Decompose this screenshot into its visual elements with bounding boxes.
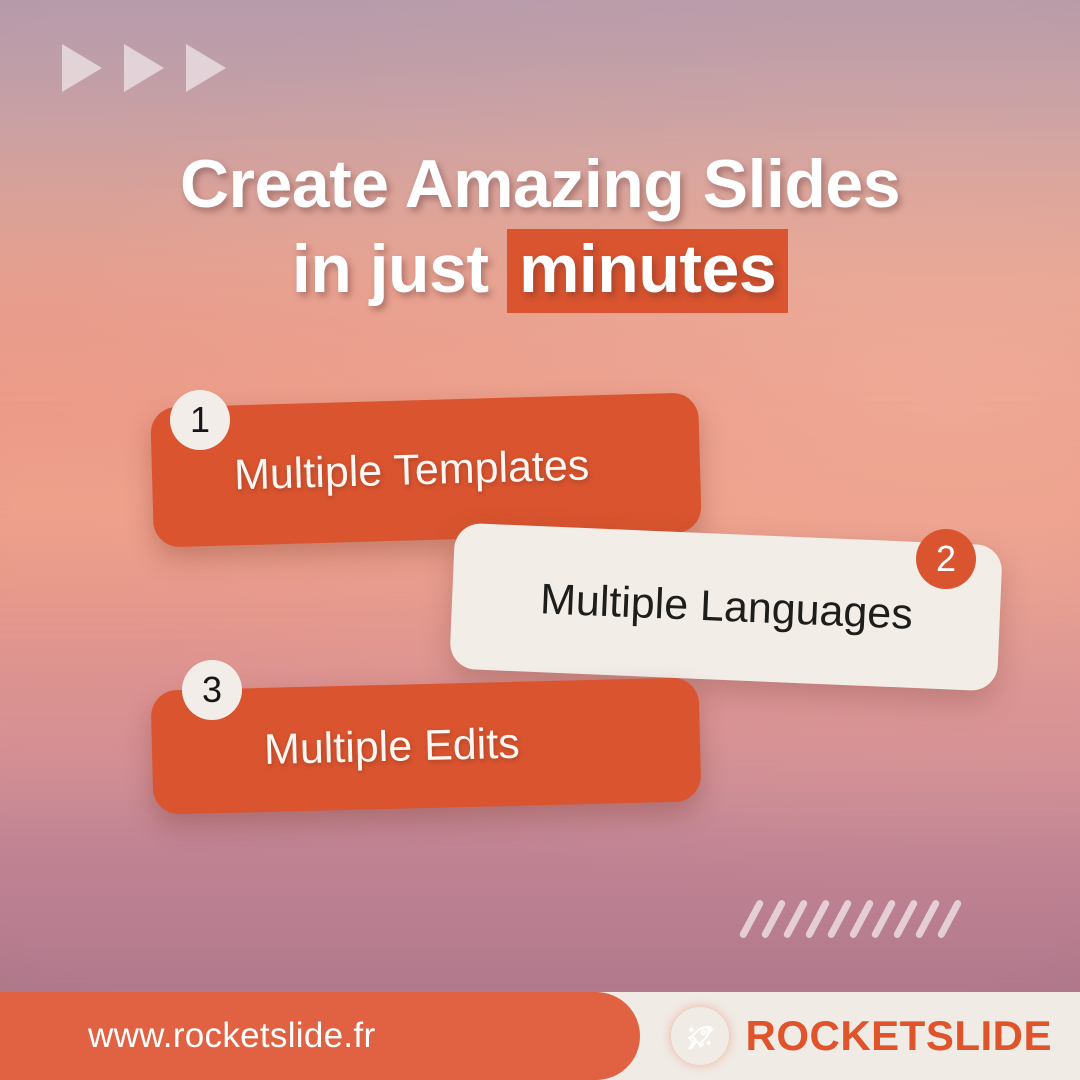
feature-card-2-label: Multiple Languages xyxy=(539,578,913,637)
feature-card-1-label: Multiple Templates xyxy=(233,444,589,497)
feature-card-list: Multiple Templates 1 Multiple Languages … xyxy=(0,0,1080,1080)
feature-badge-2: 2 xyxy=(916,529,976,589)
feature-card-3-label: Multiple Edits xyxy=(264,722,521,771)
brand-name-text: ROCKETSLIDE xyxy=(745,1012,1052,1060)
poster-canvas: Create Amazing Slides in just minutes Mu… xyxy=(0,0,1080,1080)
rocket-icon xyxy=(671,1007,729,1065)
footer-bar: www.rocketslide.fr xyxy=(0,992,1080,1080)
feature-card-1[interactable]: Multiple Templates xyxy=(150,392,702,547)
feature-badge-3: 3 xyxy=(182,660,242,720)
feature-badge-1: 1 xyxy=(170,390,230,450)
footer-url-text: www.rocketslide.fr xyxy=(88,1016,375,1056)
brand-lockup[interactable]: ROCKETSLIDE xyxy=(671,992,1052,1080)
footer-url-pill[interactable]: www.rocketslide.fr xyxy=(0,992,640,1080)
